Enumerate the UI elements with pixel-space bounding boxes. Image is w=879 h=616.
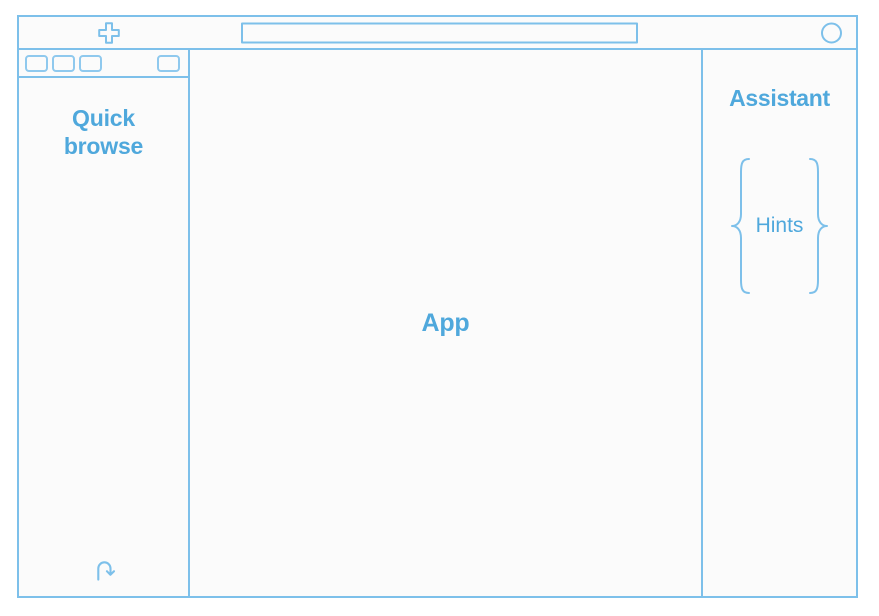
app-window-frame: Quick browse App Assistant (17, 15, 858, 598)
sidebar: Quick browse (19, 50, 190, 596)
top-bar (19, 17, 856, 50)
sidebar-tool-1[interactable] (25, 55, 48, 72)
left-curly-brace-icon (728, 156, 754, 296)
plus-icon[interactable] (97, 21, 121, 45)
sidebar-title: Quick browse (44, 104, 164, 596)
search-input[interactable] (241, 22, 638, 43)
sidebar-tool-3[interactable] (79, 55, 102, 72)
sidebar-content: Quick browse (19, 78, 188, 596)
hints-block: Hints (703, 156, 856, 296)
right-curly-brace-icon (805, 156, 831, 296)
sidebar-toolbar (19, 50, 188, 78)
u-turn-arrow-icon[interactable] (91, 556, 119, 584)
sidebar-toolbar-right-group (157, 55, 180, 72)
body-row: Quick browse App Assistant (19, 50, 856, 596)
assistant-panel: Assistant Hints (703, 50, 856, 596)
main-app-panel: App (190, 50, 703, 596)
sidebar-tool-2[interactable] (52, 55, 75, 72)
sidebar-tool-4[interactable] (157, 55, 180, 72)
avatar[interactable] (821, 22, 842, 43)
main-panel-title: App (422, 309, 470, 338)
hints-label: Hints (756, 214, 804, 238)
assistant-title: Assistant (729, 85, 830, 112)
sidebar-toolbar-left-group (25, 55, 102, 72)
